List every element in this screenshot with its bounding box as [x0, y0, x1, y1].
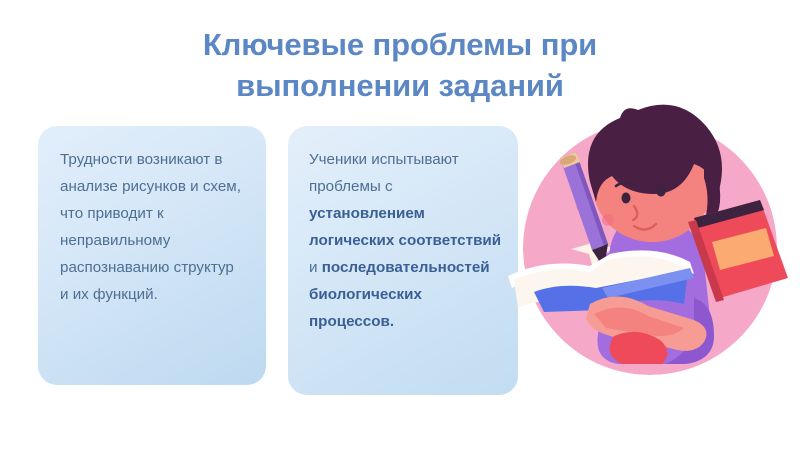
page-title: Ключевые проблемы при выполнении заданий: [120, 24, 680, 106]
child-eye: [622, 193, 631, 204]
slide-canvas: Ключевые проблемы при выполнении заданий…: [0, 0, 800, 450]
problem-card-right-text: Ученики испытывают проблемы с установлен…: [309, 146, 505, 335]
child-cheek: [602, 214, 614, 226]
child-reading-book-illustration: [498, 98, 800, 390]
child-eye: [656, 184, 666, 197]
problem-card-right: Ученики испытывают проблемы с установлен…: [288, 126, 518, 395]
problem-card-left-text: Трудности возникают в анализе рисунков и…: [60, 146, 246, 308]
problem-card-left: Трудности возникают в анализе рисунков и…: [38, 126, 266, 385]
